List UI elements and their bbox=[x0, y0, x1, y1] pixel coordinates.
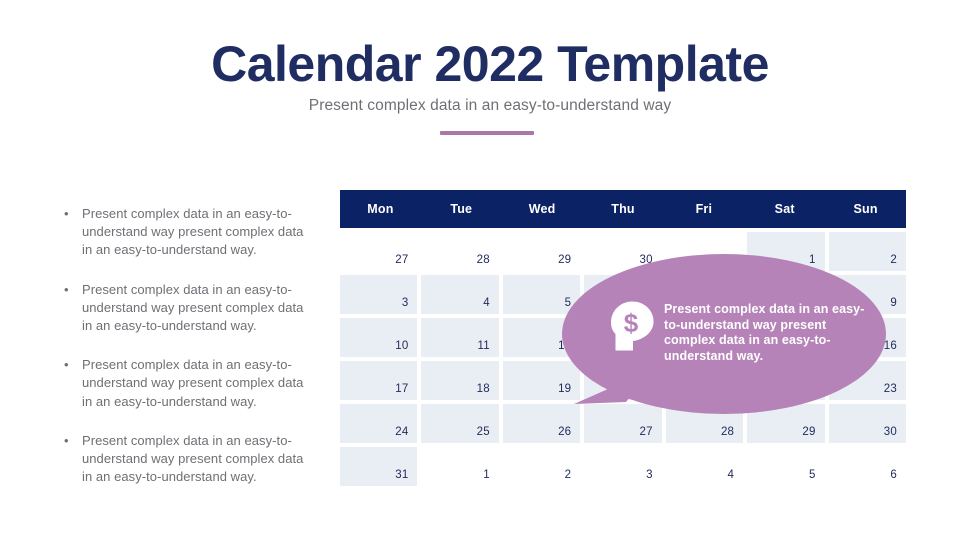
calendar-day-cell[interactable]: 3 bbox=[584, 447, 661, 486]
calendar-day-cell[interactable]: 10 bbox=[340, 318, 417, 357]
calendar-header-mon: Mon bbox=[340, 202, 421, 216]
calendar-day-number: 28 bbox=[477, 254, 490, 266]
list-item: • Present complex data in an easy-to-und… bbox=[60, 356, 310, 411]
bullet-list: • Present complex data in an easy-to-und… bbox=[60, 205, 310, 507]
calendar-day-number: 31 bbox=[395, 469, 408, 481]
calendar-week-row: 31123456 bbox=[340, 447, 906, 486]
bullet-marker-icon: • bbox=[60, 205, 82, 223]
calendar-day-cell[interactable]: 2 bbox=[503, 447, 580, 486]
calendar-day-cell[interactable]: 27 bbox=[340, 232, 417, 271]
calendar-day-number: 5 bbox=[809, 469, 816, 481]
calendar-header-thu: Thu bbox=[583, 202, 664, 216]
calendar-day-cell[interactable]: 3 bbox=[340, 275, 417, 314]
list-item-text: Present complex data in an easy-to-under… bbox=[82, 432, 310, 487]
calendar-day-number: 17 bbox=[395, 383, 408, 395]
list-item-text: Present complex data in an easy-to-under… bbox=[82, 356, 310, 411]
bullet-marker-icon: • bbox=[60, 432, 82, 450]
calendar-day-cell[interactable]: 18 bbox=[421, 361, 498, 400]
calendar-day-number: 4 bbox=[483, 297, 490, 309]
calendar-day-number: 9 bbox=[890, 297, 897, 309]
calendar-day-cell[interactable]: 28 bbox=[421, 232, 498, 271]
calendar-day-number: 2 bbox=[890, 254, 897, 266]
calendar-header-tue: Tue bbox=[421, 202, 502, 216]
calendar-header-sun: Sun bbox=[825, 202, 906, 216]
calendar-day-cell[interactable]: 4 bbox=[421, 275, 498, 314]
calendar-header-row: Mon Tue Wed Thu Fri Sat Sun bbox=[340, 190, 906, 228]
head-dollar-icon: $ bbox=[608, 300, 656, 352]
calendar-day-cell[interactable]: 17 bbox=[340, 361, 417, 400]
calendar-day-number: 3 bbox=[646, 469, 653, 481]
calendar-header-fri: Fri bbox=[663, 202, 744, 216]
page-title: Calendar 2022 Template bbox=[0, 38, 980, 91]
calendar-day-cell[interactable]: 6 bbox=[829, 447, 906, 486]
calendar-day-number: 10 bbox=[395, 340, 408, 352]
bullet-marker-icon: • bbox=[60, 356, 82, 374]
callout-bubble[interactable]: $ Present complex data in an easy-to-und… bbox=[556, 252, 886, 437]
list-item-text: Present complex data in an easy-to-under… bbox=[82, 205, 310, 260]
list-item: • Present complex data in an easy-to-und… bbox=[60, 205, 310, 260]
calendar-day-number: 4 bbox=[728, 469, 735, 481]
list-item: • Present complex data in an easy-to-und… bbox=[60, 281, 310, 336]
calendar-day-number: 1 bbox=[483, 469, 490, 481]
calendar-day-cell[interactable]: 5 bbox=[747, 447, 824, 486]
calendar-day-number: 27 bbox=[395, 254, 408, 266]
list-item-text: Present complex data in an easy-to-under… bbox=[82, 281, 310, 336]
callout-text: Present complex data in an easy-to-under… bbox=[664, 302, 876, 364]
calendar-day-cell[interactable]: 4 bbox=[666, 447, 743, 486]
calendar-day-number: 6 bbox=[890, 469, 897, 481]
page-subtitle: Present complex data in an easy-to-under… bbox=[0, 97, 980, 115]
calendar-day-cell[interactable]: 24 bbox=[340, 404, 417, 443]
calendar-day-cell[interactable]: 25 bbox=[421, 404, 498, 443]
calendar-header-wed: Wed bbox=[502, 202, 583, 216]
calendar-day-number: 18 bbox=[477, 383, 490, 395]
svg-text:$: $ bbox=[624, 308, 639, 338]
calendar-header-sat: Sat bbox=[744, 202, 825, 216]
calendar-day-number: 3 bbox=[402, 297, 409, 309]
calendar-day-number: 2 bbox=[565, 469, 572, 481]
calendar-day-number: 24 bbox=[395, 426, 408, 438]
calendar-day-cell[interactable]: 11 bbox=[421, 318, 498, 357]
calendar-day-number: 11 bbox=[478, 340, 490, 352]
bullet-marker-icon: • bbox=[60, 281, 82, 299]
calendar-day-number: 25 bbox=[477, 426, 490, 438]
title-divider bbox=[440, 131, 534, 135]
calendar-day-cell[interactable]: 1 bbox=[421, 447, 498, 486]
list-item: • Present complex data in an easy-to-und… bbox=[60, 432, 310, 487]
calendar-day-cell[interactable]: 31 bbox=[340, 447, 417, 486]
